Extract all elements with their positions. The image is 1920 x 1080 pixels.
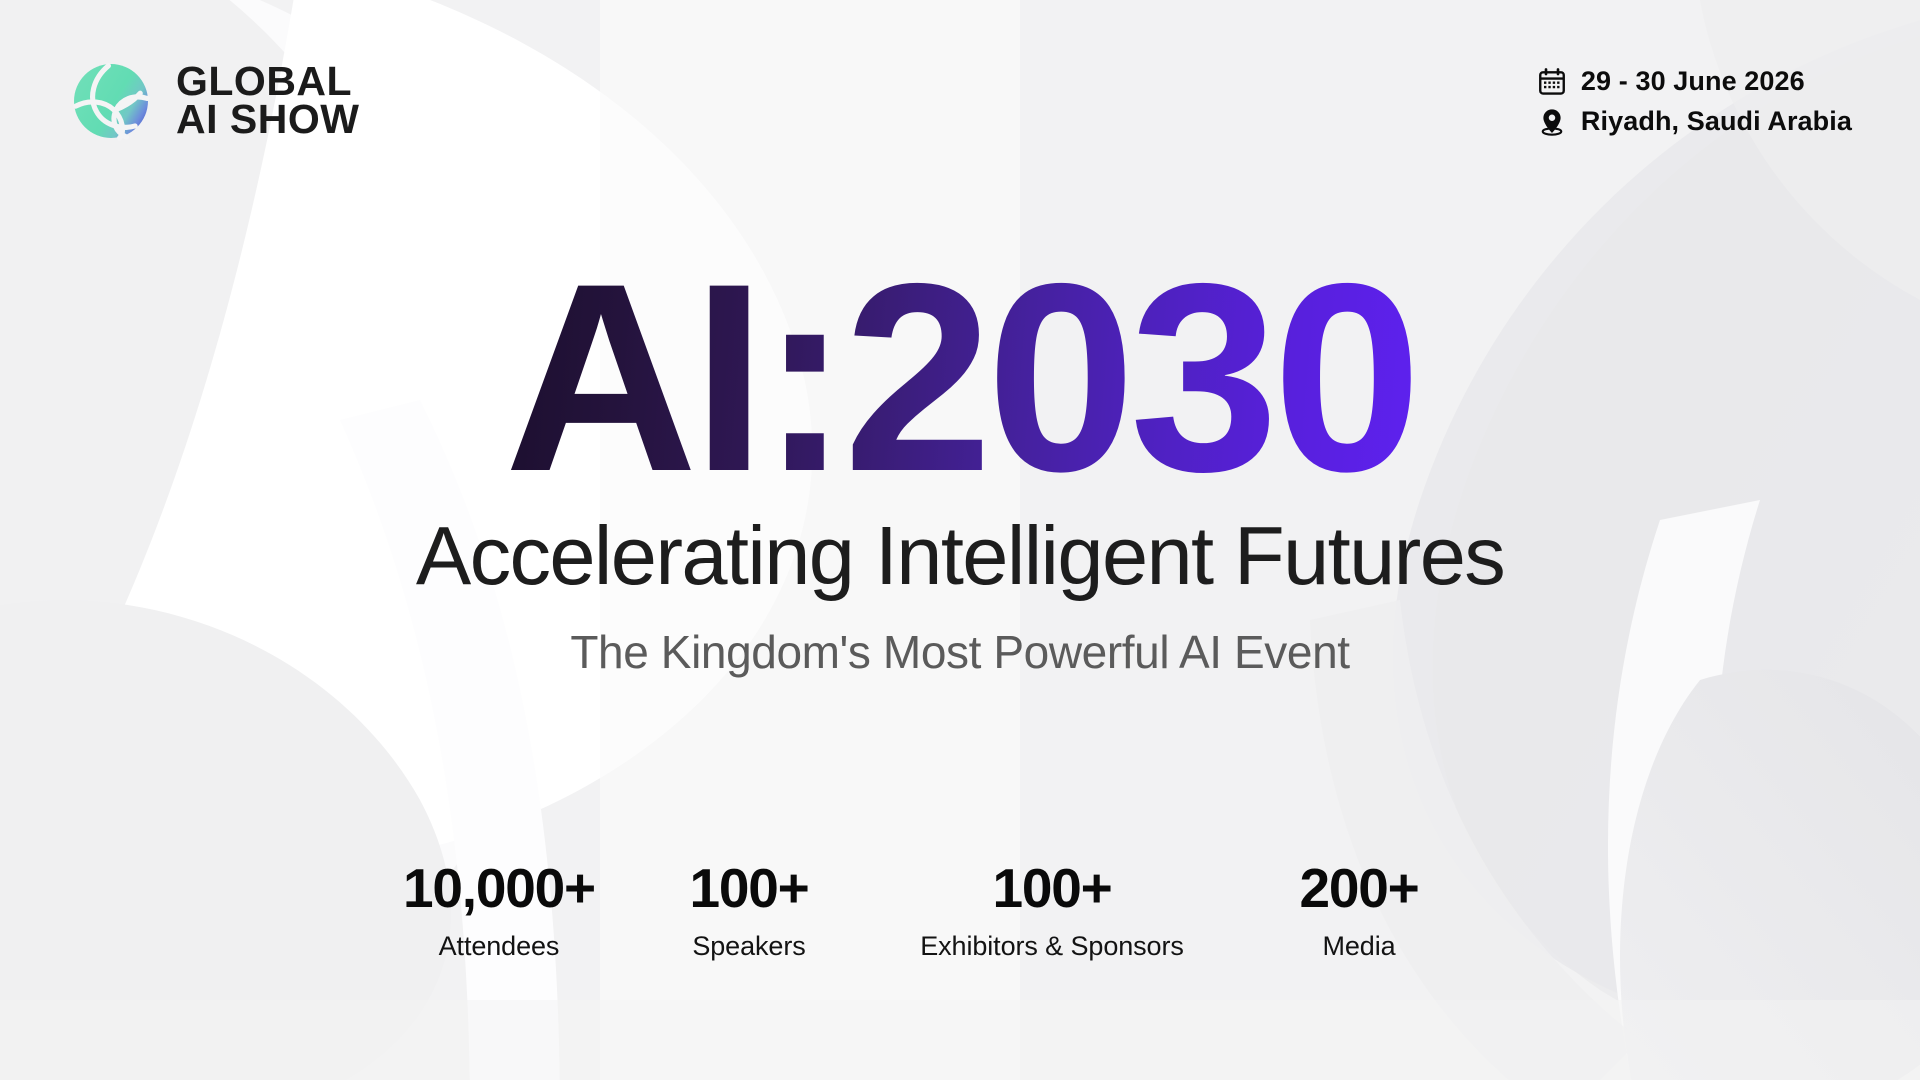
stat-item: 100+ Speakers — [629, 860, 869, 962]
stat-value: 100+ — [629, 860, 869, 918]
stat-value: 10,000+ — [379, 860, 619, 918]
event-location: Riyadh, Saudi Arabia — [1581, 106, 1852, 137]
stat-label: Media — [1239, 931, 1479, 962]
event-meta: 29 - 30 June 2026 Riyadh, Saudi Arabia — [1537, 58, 1852, 137]
stat-label: Attendees — [379, 931, 619, 962]
event-date: 29 - 30 June 2026 — [1581, 66, 1805, 97]
stat-label: Speakers — [629, 931, 869, 962]
globe-mark-icon — [68, 58, 154, 144]
event-date-row: 29 - 30 June 2026 — [1537, 66, 1852, 97]
stat-item: 10,000+ Attendees — [379, 860, 619, 962]
brand-line-ai-show: AI SHOW — [176, 101, 359, 139]
calendar-icon — [1537, 67, 1567, 97]
brand-logo[interactable]: GLOBAL AI SHOW — [68, 58, 359, 144]
stat-item: 200+ Media — [1239, 860, 1479, 962]
map-pin-icon — [1537, 107, 1567, 137]
stats-row: 10,000+ Attendees 100+ Speakers 100+ Exh… — [0, 860, 1920, 962]
stat-value: 100+ — [887, 860, 1217, 918]
stat-item: 100+ Exhibitors & Sponsors — [887, 860, 1217, 962]
stat-label: Exhibitors & Sponsors — [887, 931, 1217, 962]
brand-wordmark: GLOBAL AI SHOW — [176, 63, 359, 138]
page-header: GLOBAL AI SHOW — [0, 0, 1920, 200]
stat-value: 200+ — [1239, 860, 1479, 918]
event-location-row: Riyadh, Saudi Arabia — [1537, 106, 1852, 137]
